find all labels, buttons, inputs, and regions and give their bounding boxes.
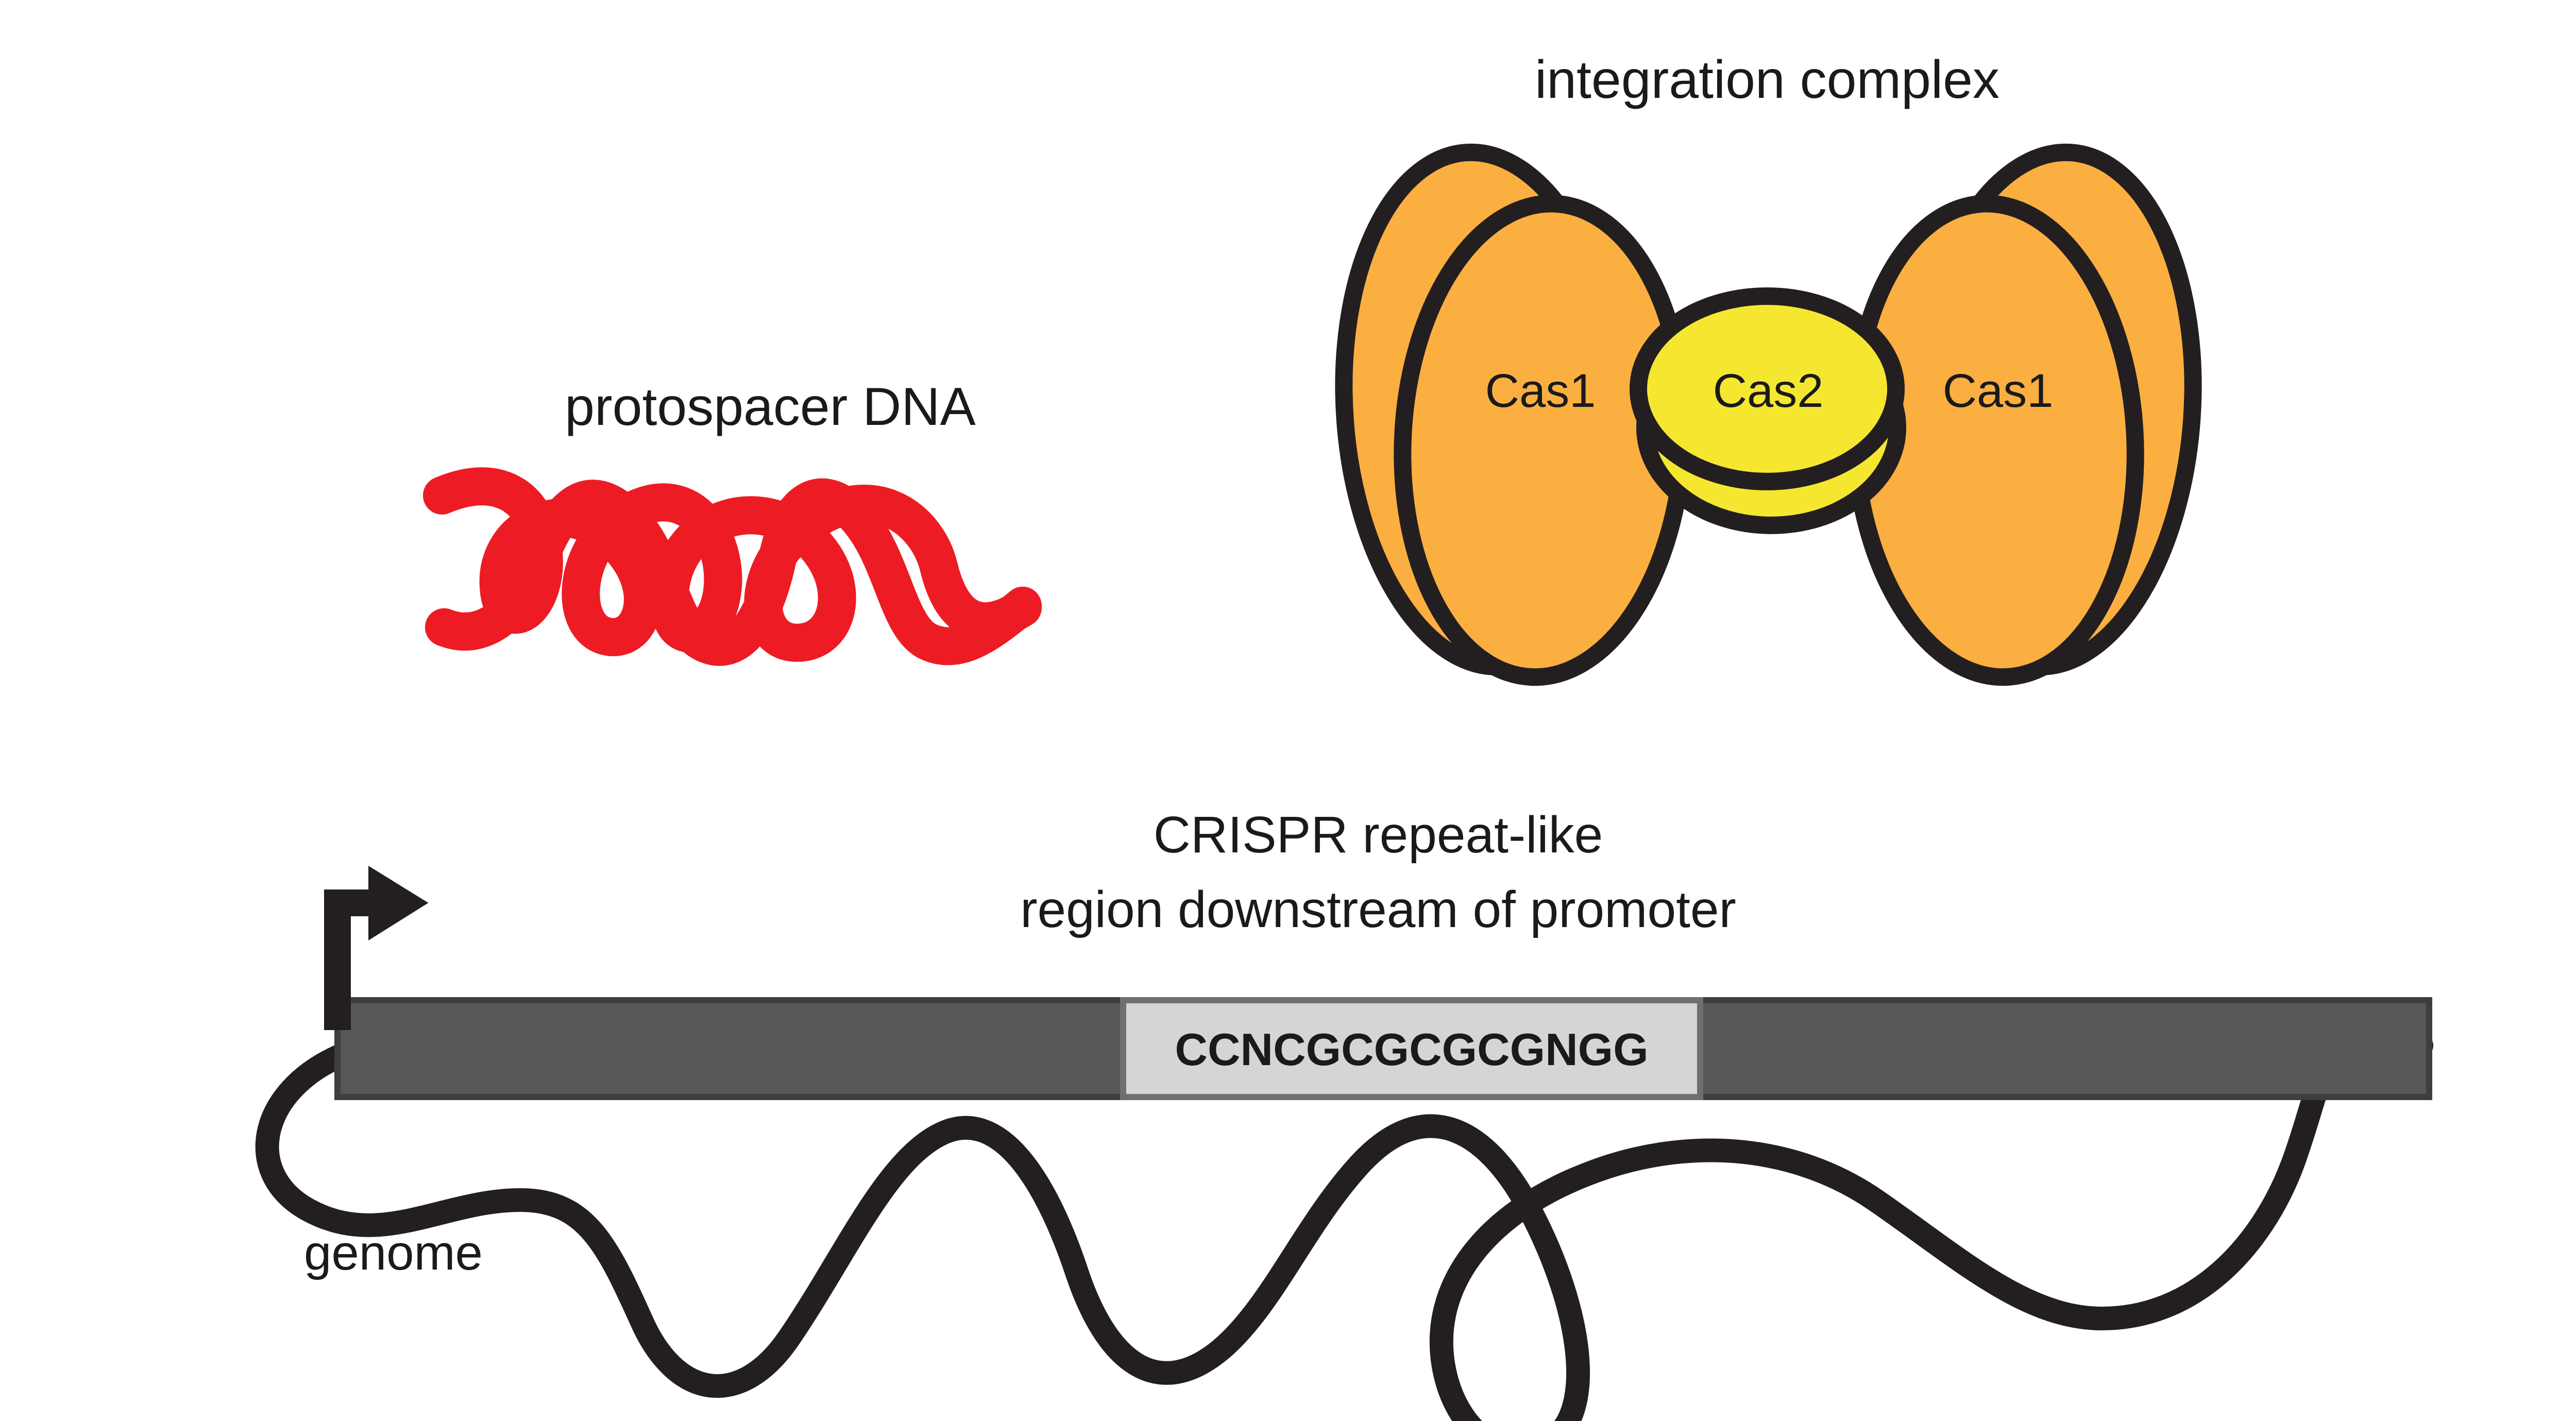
figure-canvas: integration complex Cas1 Cas2 Cas1 proto… [0,0,2576,1421]
crispr-repeat-label-line2: region downstream of promoter [1020,881,1736,938]
cas2-label: Cas2 [1713,365,1824,417]
crispr-integration-diagram: integration complex Cas1 Cas2 Cas1 proto… [0,0,2576,1421]
cas1-right-label: Cas1 [1943,365,2054,417]
cas1-left-label: Cas1 [1485,365,1596,417]
crispr-repeat-label-line1: CRISPR repeat-like [1154,806,1603,864]
canvas-background [0,0,2576,1421]
repeat-sequence-text: CCNCGCGCGCGNGG [1175,1024,1648,1075]
genome-label: genome [304,1225,483,1280]
protospacer-dna-label: protospacer DNA [565,377,976,437]
integration-complex-label: integration complex [1535,50,1999,110]
